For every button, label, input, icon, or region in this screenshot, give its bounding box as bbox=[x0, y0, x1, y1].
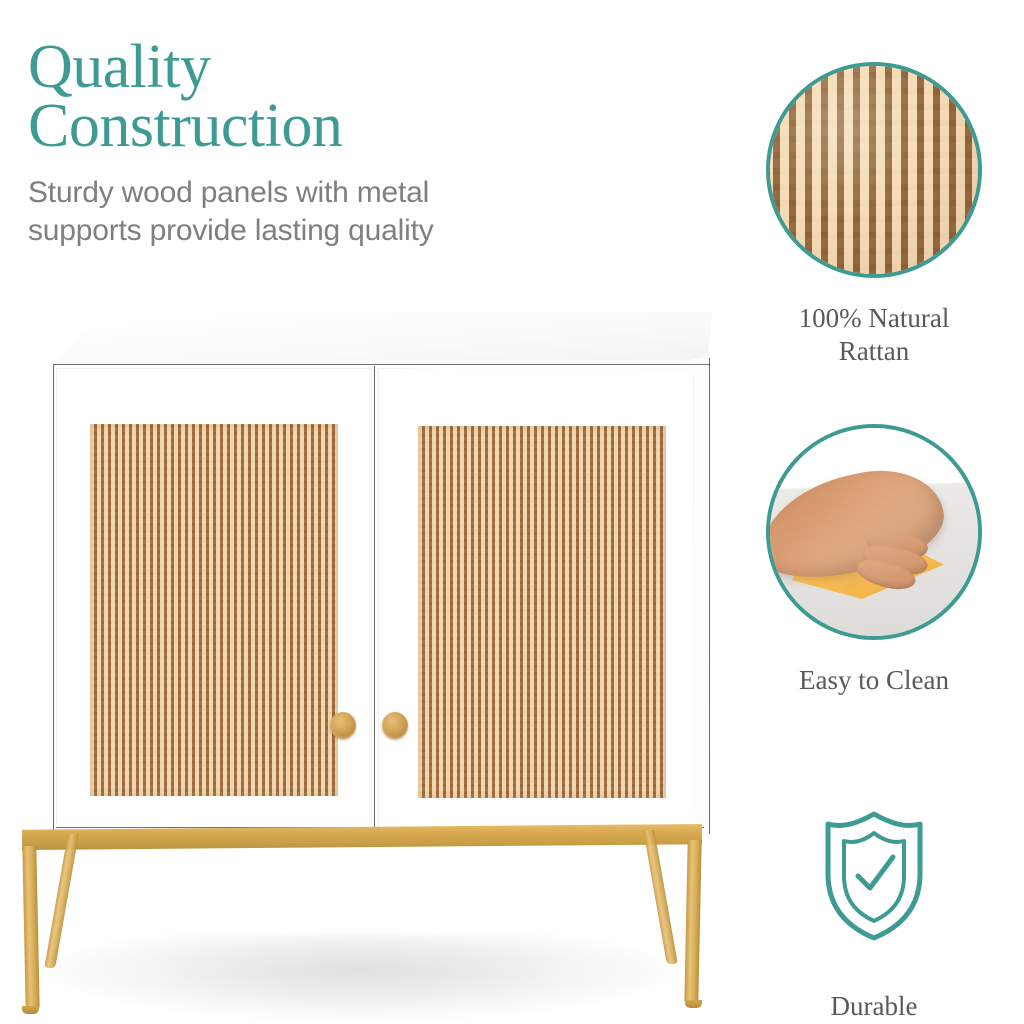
hand-wiping-cloth-icon bbox=[766, 424, 982, 640]
feature-item-clean: Easy to Clean bbox=[724, 424, 1024, 697]
page-subtitle-line-1: Sturdy wood panels with metal bbox=[28, 176, 429, 209]
feature-caption-rattan: 100% Natural Rattan bbox=[724, 278, 1024, 368]
cabinet-door-left[interactable] bbox=[56, 368, 372, 828]
product-image-cabinet bbox=[0, 300, 740, 1024]
feature-caption-rattan-line-1: 100% Natural bbox=[799, 303, 950, 333]
page-subtitle: Sturdy wood panels with metal supports p… bbox=[28, 174, 588, 251]
gold-foot-front-left bbox=[22, 1006, 39, 1014]
page-subtitle-line-2: supports provide lasting quality bbox=[28, 212, 588, 250]
feature-caption-durable: Durable bbox=[724, 966, 1024, 1023]
cabinet-top-seam bbox=[54, 364, 710, 365]
shield-check-icon bbox=[766, 786, 982, 966]
feature-caption-clean-line-1: Easy to Clean bbox=[799, 665, 949, 695]
headline-block: Quality Construction Sturdy wood panels … bbox=[28, 38, 588, 251]
cabinet-knob-right[interactable] bbox=[382, 712, 408, 739]
page-title-line-2: Construction bbox=[28, 97, 588, 156]
gold-leg-front-left bbox=[22, 846, 39, 1010]
rattan-panel-left bbox=[90, 424, 338, 796]
feature-item-durable: Durable bbox=[724, 786, 1024, 1023]
cabinet-right-edge-seam bbox=[709, 358, 710, 834]
cabinet-knob-left[interactable] bbox=[330, 712, 356, 739]
feature-caption-clean: Easy to Clean bbox=[724, 640, 1024, 697]
floor-shadow bbox=[40, 936, 680, 1022]
page-title: Quality Construction bbox=[28, 38, 588, 156]
cabinet-door-right[interactable] bbox=[378, 368, 694, 828]
rattan-weave-icon bbox=[766, 62, 982, 278]
gold-foot-front-right bbox=[685, 1000, 702, 1008]
feature-item-rattan: 100% Natural Rattan bbox=[724, 62, 1024, 368]
cabinet-left-edge-seam bbox=[53, 364, 54, 832]
feature-column: 100% Natural Rattan Easy to Clean bbox=[724, 0, 1024, 1024]
cabinet-top-surface bbox=[22, 312, 712, 364]
page-title-line-1: Quality bbox=[28, 33, 210, 101]
rattan-panel-right bbox=[418, 426, 666, 798]
door-gap-seam bbox=[374, 366, 375, 828]
feature-caption-rattan-line-2: Rattan bbox=[724, 335, 1024, 368]
gold-leg-front-right bbox=[684, 840, 701, 1004]
feature-caption-durable-line-1: Durable bbox=[831, 991, 918, 1021]
rattan-weave-sheen bbox=[770, 66, 978, 274]
